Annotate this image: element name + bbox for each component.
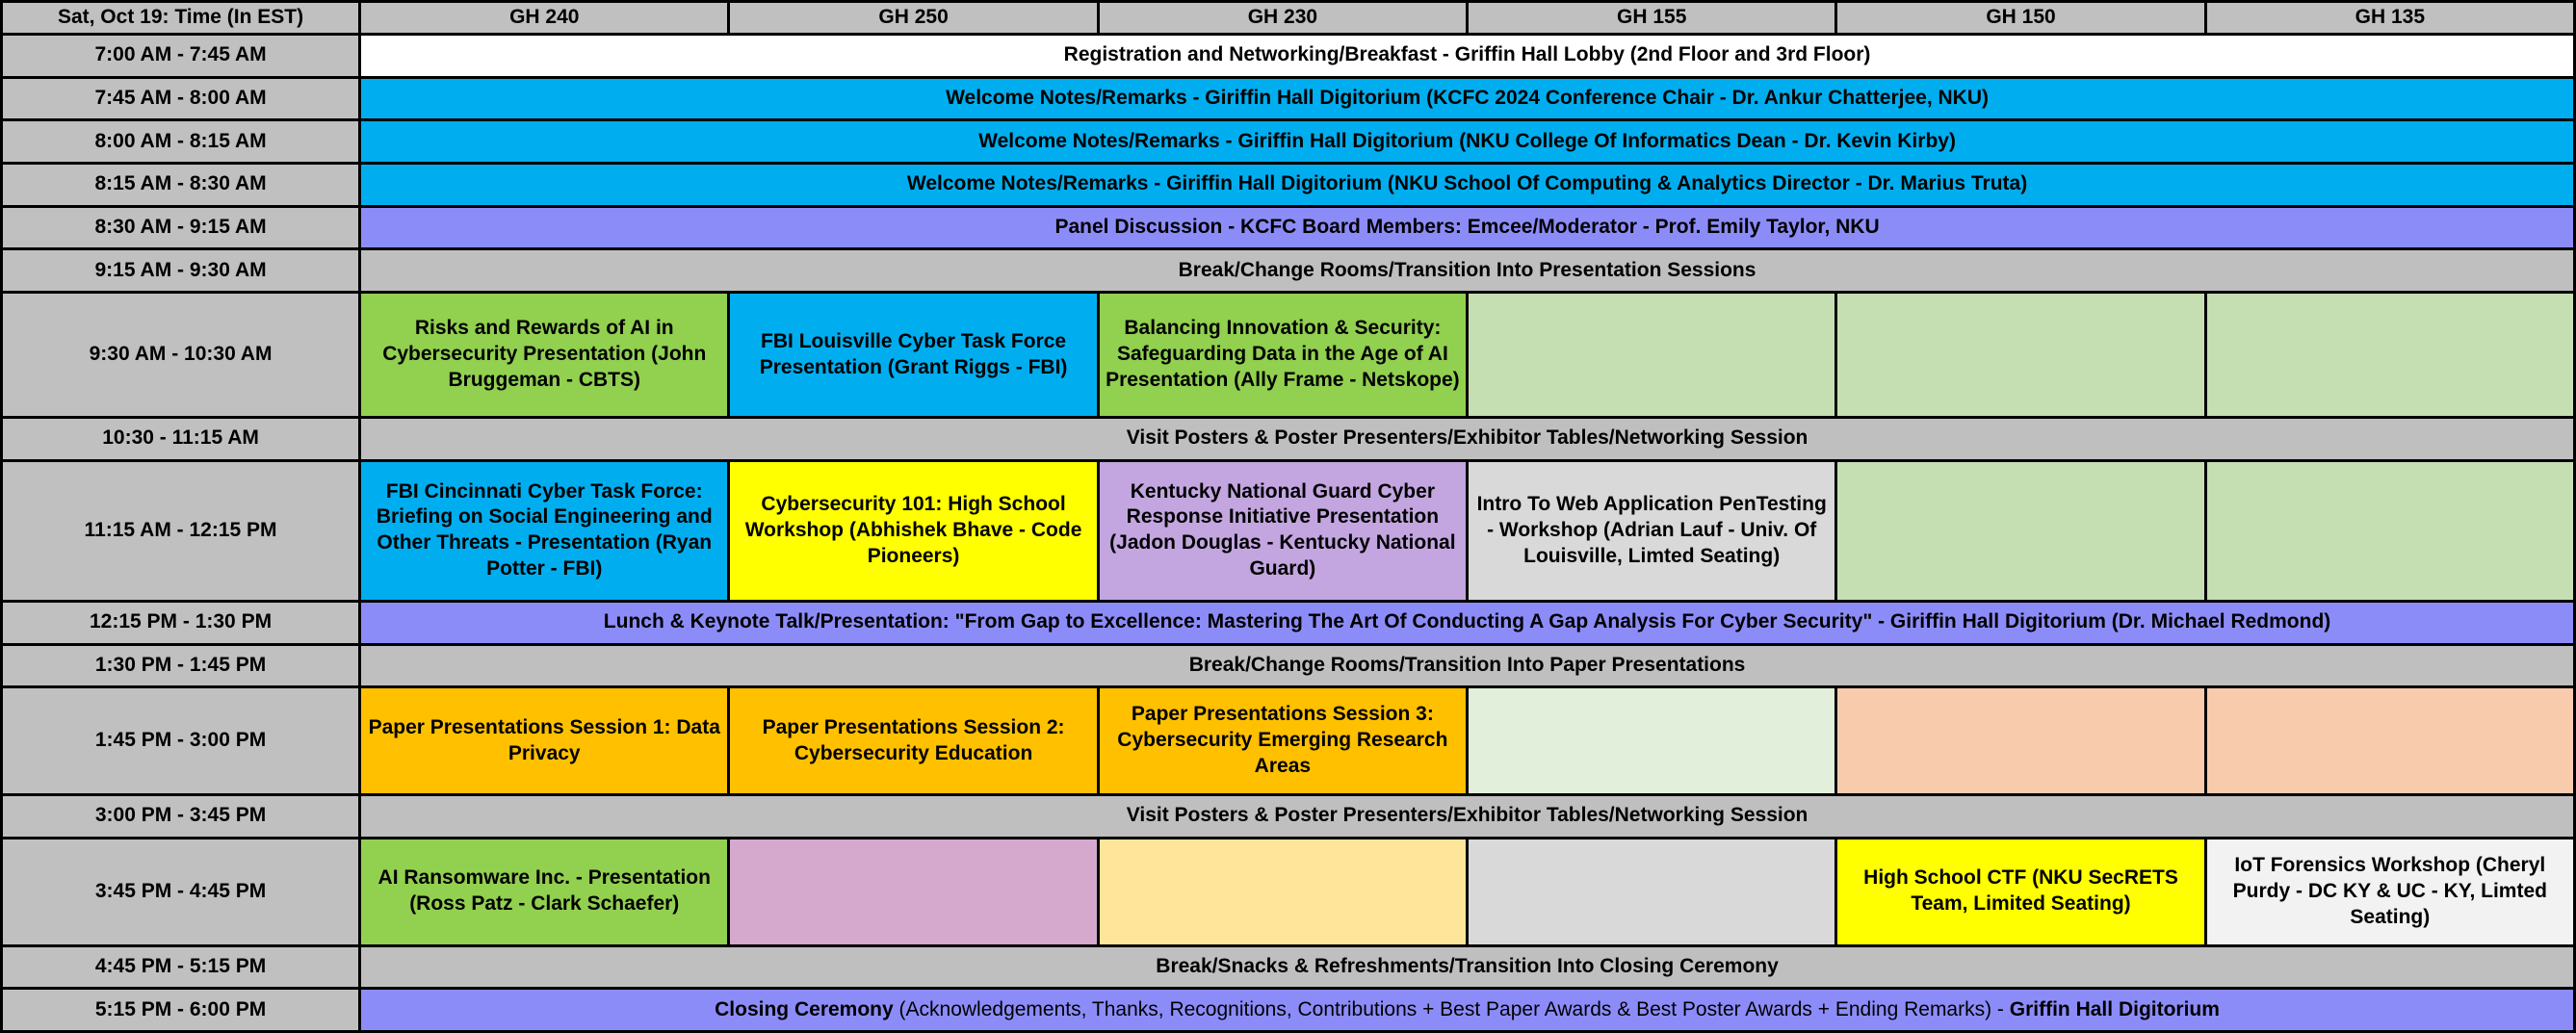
session-break-snacks: Break/Snacks & Refreshments/Transition I… xyxy=(360,945,2575,989)
header-room-gh155: GH 155 xyxy=(1468,2,1836,35)
closing-ceremony-detail: (Acknowledgements, Thanks, Recognitions,… xyxy=(894,998,2010,1020)
session-fbi-cincinnati: FBI Cincinnati Cyber Task Force: Briefin… xyxy=(360,460,729,601)
table-row: 3:45 PM - 4:45 PM AI Ransomware Inc. - P… xyxy=(2,838,2575,945)
table-row: 9:15 AM - 9:30 AM Break/Change Rooms/Tra… xyxy=(2,249,2575,293)
session-paper-session-1: Paper Presentations Session 1: Data Priv… xyxy=(360,687,729,795)
session-closing-ceremony: Closing Ceremony (Acknowledgements, Than… xyxy=(360,989,2575,1032)
table-row: 11:15 AM - 12:15 PM FBI Cincinnati Cyber… xyxy=(2,460,2575,601)
session-break-transition-1: Break/Change Rooms/Transition Into Prese… xyxy=(360,249,2575,293)
session-empty-gh150 xyxy=(1836,460,2205,601)
time-slot: 7:45 AM - 8:00 AM xyxy=(2,77,360,120)
session-panel-discussion: Panel Discussion - KCFC Board Members: E… xyxy=(360,206,2575,249)
session-break-transition-2: Break/Change Rooms/Transition Into Paper… xyxy=(360,644,2575,687)
time-slot: 7:00 AM - 7:45 AM xyxy=(2,34,360,77)
table-row: 1:30 PM - 1:45 PM Break/Change Rooms/Tra… xyxy=(2,644,2575,687)
session-empty-gh230 xyxy=(1098,838,1467,945)
header-room-gh230: GH 230 xyxy=(1098,2,1467,35)
session-lunch-keynote: Lunch & Keynote Talk/Presentation: "From… xyxy=(360,601,2575,644)
session-kentucky-national-guard: Kentucky National Guard Cyber Response I… xyxy=(1098,460,1467,601)
session-posters-2: Visit Posters & Poster Presenters/Exhibi… xyxy=(360,795,2575,839)
table-row: 9:30 AM - 10:30 AM Risks and Rewards of … xyxy=(2,292,2575,417)
table-row: 7:00 AM - 7:45 AM Registration and Netwo… xyxy=(2,34,2575,77)
session-empty-gh250 xyxy=(729,838,1098,945)
header-room-gh240: GH 240 xyxy=(360,2,729,35)
time-slot: 1:45 PM - 3:00 PM xyxy=(2,687,360,795)
time-slot: 4:45 PM - 5:15 PM xyxy=(2,945,360,989)
session-paper-session-2: Paper Presentations Session 2: Cybersecu… xyxy=(729,687,1098,795)
session-cybersecurity-101: Cybersecurity 101: High School Workshop … xyxy=(729,460,1098,601)
session-welcome-director: Welcome Notes/Remarks - Giriffin Hall Di… xyxy=(360,163,2575,206)
time-slot: 3:45 PM - 4:45 PM xyxy=(2,838,360,945)
table-row: 3:00 PM - 3:45 PM Visit Posters & Poster… xyxy=(2,795,2575,839)
session-empty-gh150 xyxy=(1836,292,2205,417)
session-risks-rewards-ai: Risks and Rewards of AI in Cybersecurity… xyxy=(360,292,729,417)
table-row: 7:45 AM - 8:00 AM Welcome Notes/Remarks … xyxy=(2,77,2575,120)
session-empty-gh135 xyxy=(2205,687,2574,795)
session-fbi-louisville: FBI Louisville Cyber Task Force Presenta… xyxy=(729,292,1098,417)
session-empty-gh135 xyxy=(2205,292,2574,417)
time-slot: 1:30 PM - 1:45 PM xyxy=(2,644,360,687)
table-row: 12:15 PM - 1:30 PM Lunch & Keynote Talk/… xyxy=(2,601,2575,644)
session-paper-session-3: Paper Presentations Session 3: Cybersecu… xyxy=(1098,687,1467,795)
session-empty-gh135 xyxy=(2205,460,2574,601)
session-balancing-innovation: Balancing Innovation & Security: Safegua… xyxy=(1098,292,1467,417)
time-slot: 10:30 - 11:15 AM xyxy=(2,418,360,461)
header-room-gh135: GH 135 xyxy=(2205,2,2574,35)
session-empty-gh155 xyxy=(1468,838,1836,945)
session-registration: Registration and Networking/Breakfast - … xyxy=(360,34,2575,77)
time-slot: 9:15 AM - 9:30 AM xyxy=(2,249,360,293)
table-row: 8:15 AM - 8:30 AM Welcome Notes/Remarks … xyxy=(2,163,2575,206)
time-slot: 11:15 AM - 12:15 PM xyxy=(2,460,360,601)
session-high-school-ctf: High School CTF (NKU SecRETS Team, Limit… xyxy=(1836,838,2205,945)
table-row: 8:00 AM - 8:15 AM Welcome Notes/Remarks … xyxy=(2,120,2575,164)
session-empty-gh150 xyxy=(1836,687,2205,795)
session-ai-ransomware: AI Ransomware Inc. - Presentation (Ross … xyxy=(360,838,729,945)
table-row: 1:45 PM - 3:00 PM Paper Presentations Se… xyxy=(2,687,2575,795)
table-row: 4:45 PM - 5:15 PM Break/Snacks & Refresh… xyxy=(2,945,2575,989)
session-posters-1: Visit Posters & Poster Presenters/Exhibi… xyxy=(360,418,2575,461)
table-row: 8:30 AM - 9:15 AM Panel Discussion - KCF… xyxy=(2,206,2575,249)
table-row: 5:15 PM - 6:00 PM Closing Ceremony (Ackn… xyxy=(2,989,2575,1032)
session-welcome-dean: Welcome Notes/Remarks - Giriffin Hall Di… xyxy=(360,120,2575,164)
session-web-app-pentesting: Intro To Web Application PenTesting - Wo… xyxy=(1468,460,1836,601)
time-slot: 8:15 AM - 8:30 AM xyxy=(2,163,360,206)
time-slot: 8:00 AM - 8:15 AM xyxy=(2,120,360,164)
closing-ceremony-lead: Closing Ceremony xyxy=(715,998,894,1020)
closing-ceremony-venue: Griffin Hall Digitorium xyxy=(2010,998,2220,1020)
table-row: 10:30 - 11:15 AM Visit Posters & Poster … xyxy=(2,418,2575,461)
session-empty-gh155 xyxy=(1468,292,1836,417)
time-slot: 3:00 PM - 3:45 PM xyxy=(2,795,360,839)
time-slot: 12:15 PM - 1:30 PM xyxy=(2,601,360,644)
time-slot: 8:30 AM - 9:15 AM xyxy=(2,206,360,249)
header-room-gh150: GH 150 xyxy=(1836,2,2205,35)
time-slot: 9:30 AM - 10:30 AM xyxy=(2,292,360,417)
session-welcome-chair: Welcome Notes/Remarks - Giriffin Hall Di… xyxy=(360,77,2575,120)
header-time-column: Sat, Oct 19: Time (In EST) xyxy=(2,2,360,35)
session-empty-gh155 xyxy=(1468,687,1836,795)
time-slot: 5:15 PM - 6:00 PM xyxy=(2,989,360,1032)
table-header-row: Sat, Oct 19: Time (In EST) GH 240 GH 250… xyxy=(2,2,2575,35)
header-room-gh250: GH 250 xyxy=(729,2,1098,35)
session-iot-forensics: IoT Forensics Workshop (Cheryl Purdy - D… xyxy=(2205,838,2574,945)
conference-schedule-table: Sat, Oct 19: Time (In EST) GH 240 GH 250… xyxy=(0,0,2576,1033)
